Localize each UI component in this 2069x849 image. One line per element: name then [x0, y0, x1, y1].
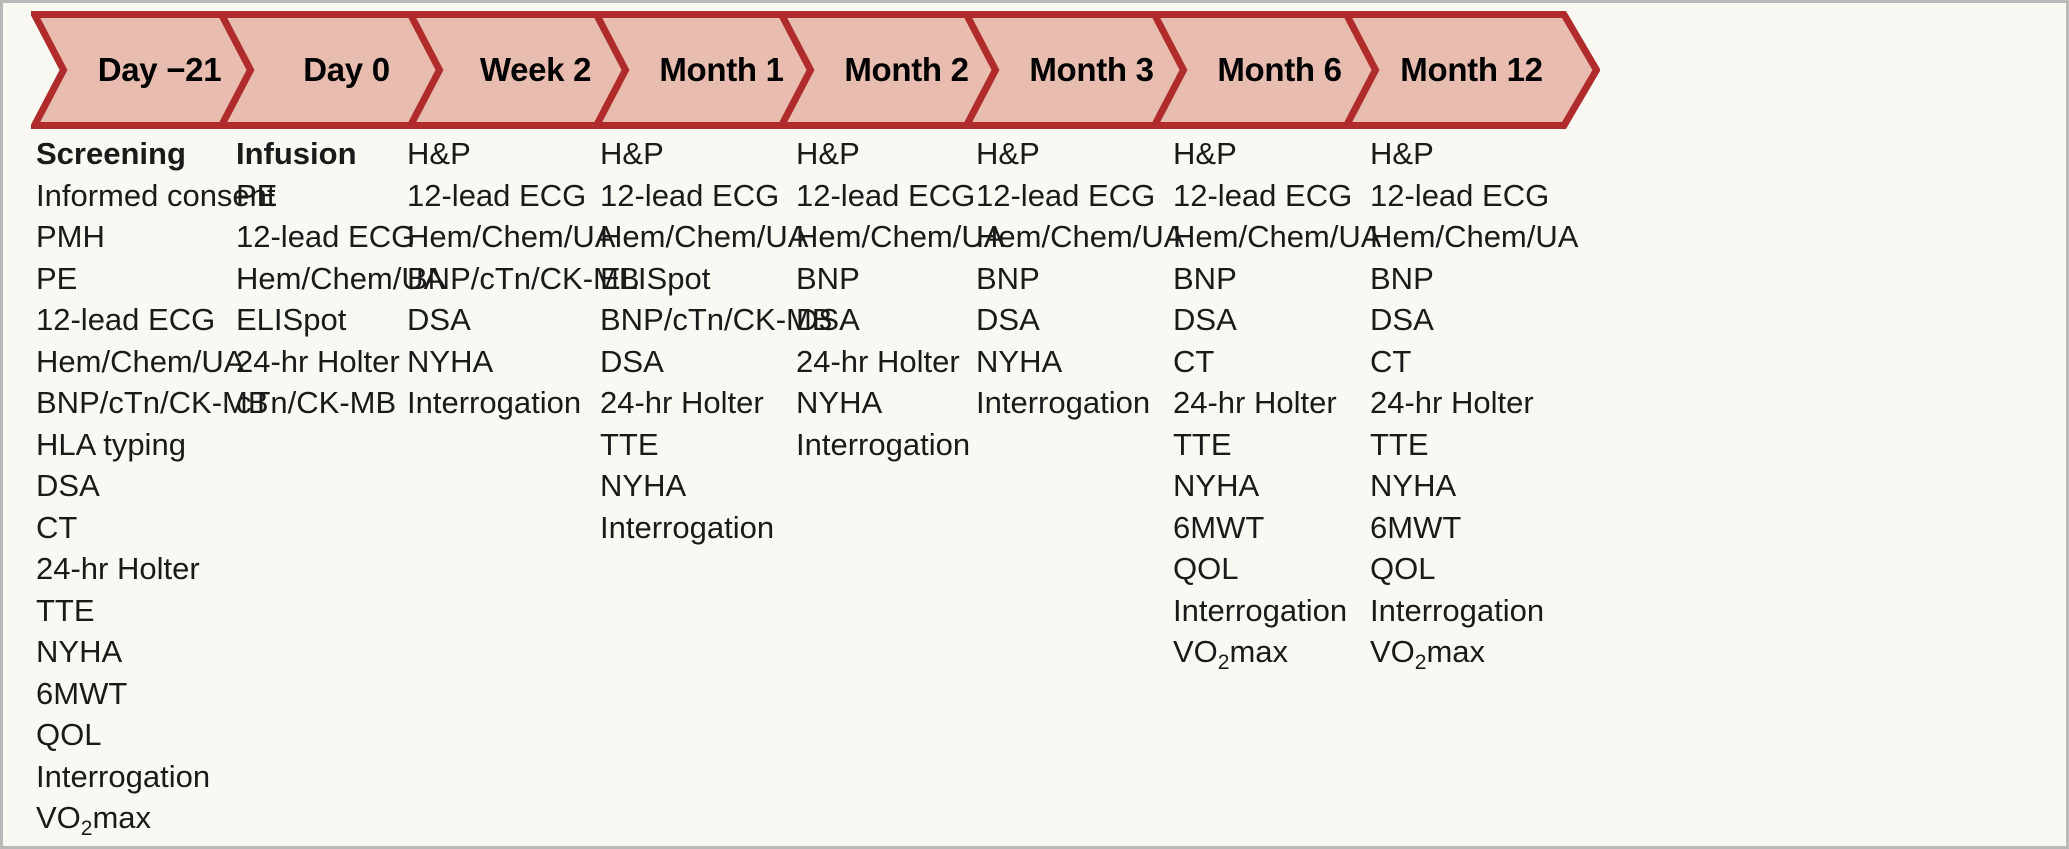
chevron-label: Month 1	[659, 51, 783, 89]
assessment-item: QOL	[1370, 548, 1578, 590]
assessment-item: DSA	[1370, 299, 1578, 341]
assessment-item: CT	[36, 507, 276, 549]
assessment-item: DSA	[36, 465, 276, 507]
timeline-chevron-8[interactable]: Month 12	[1343, 11, 1600, 129]
assessment-item: DSA	[1173, 299, 1381, 341]
chevron-label: Month 3	[1029, 51, 1153, 89]
assessment-item: CT	[1370, 341, 1578, 383]
assessment-item: 12-lead ECG	[976, 175, 1184, 217]
assessment-item: Hem/Chem/UA	[796, 216, 1004, 258]
chevron-label: Month 2	[844, 51, 968, 89]
assessment-item: 24-hr Holter	[36, 548, 276, 590]
assessment-item: 24-hr Holter	[1370, 382, 1578, 424]
assessment-item: Interrogation	[1173, 590, 1381, 632]
assessment-item: Interrogation	[976, 382, 1184, 424]
assessment-columns: ScreeningInformed consentPMHPE12-lead EC…	[3, 133, 2069, 833]
assessment-item: BNP	[796, 258, 1004, 300]
chevron-label: Week 2	[480, 51, 591, 89]
assessment-item: QOL	[36, 714, 276, 756]
chevron-label: Month 6	[1217, 51, 1341, 89]
chevron-label: Month 12	[1400, 51, 1542, 89]
assessment-item: CT	[1173, 341, 1381, 383]
chevron-row: Day −21Day 0Week 2Month 1Month 2Month 3M…	[3, 11, 2069, 129]
assessment-item: 6MWT	[1173, 507, 1381, 549]
assessment-item: NYHA	[1370, 465, 1578, 507]
assessment-item: Interrogation	[1370, 590, 1578, 632]
assessment-item: BNP	[1370, 258, 1578, 300]
assessment-item: Hem/Chem/UA	[1173, 216, 1381, 258]
assessment-item: HLA typing	[36, 424, 276, 466]
assessment-item: NYHA	[600, 465, 833, 507]
assessment-item: TTE	[1370, 424, 1578, 466]
assessment-item: VO2max	[36, 797, 276, 839]
assessment-item: Interrogation	[796, 424, 1004, 466]
assessment-item: 12-lead ECG	[796, 175, 1004, 217]
column-heading: H&P	[1370, 133, 1578, 175]
assessment-item: DSA	[976, 299, 1184, 341]
assessment-item: VO2max	[1370, 631, 1578, 673]
assessment-item: NYHA	[36, 631, 276, 673]
assessment-item: NYHA	[796, 382, 1004, 424]
clinical-trial-timeline-figure: Day −21Day 0Week 2Month 1Month 2Month 3M…	[0, 0, 2069, 849]
assessment-item: 24-hr Holter	[1173, 382, 1381, 424]
column-heading: H&P	[976, 133, 1184, 175]
chevron-label: Day −21	[98, 51, 222, 89]
column-heading: H&P	[796, 133, 1004, 175]
assessment-item: Hem/Chem/UA	[976, 216, 1184, 258]
assessment-item: Hem/Chem/UA	[1370, 216, 1578, 258]
assessment-item: Interrogation	[36, 756, 276, 798]
column-heading: H&P	[1173, 133, 1381, 175]
assessment-column-8: H&P12-lead ECGHem/Chem/UABNPDSACT24-hr H…	[1370, 133, 1578, 673]
assessment-item: Interrogation	[600, 507, 833, 549]
assessment-column-6: H&P12-lead ECGHem/Chem/UABNPDSANYHAInter…	[976, 133, 1184, 424]
assessment-item: NYHA	[976, 341, 1184, 383]
assessment-item: QOL	[1173, 548, 1381, 590]
assessment-item: 12-lead ECG	[1370, 175, 1578, 217]
assessment-item: 24-hr Holter	[796, 341, 1004, 383]
chevron-label: Day 0	[303, 51, 390, 89]
assessment-item: NYHA	[1173, 465, 1381, 507]
assessment-item: TTE	[36, 590, 276, 632]
assessment-item: 6MWT	[1370, 507, 1578, 549]
assessment-item: TTE	[1173, 424, 1381, 466]
assessment-item: VO2max	[1173, 631, 1381, 673]
assessment-item: DSA	[796, 299, 1004, 341]
assessment-column-7: H&P12-lead ECGHem/Chem/UABNPDSACT24-hr H…	[1173, 133, 1381, 673]
assessment-item: 12-lead ECG	[1173, 175, 1381, 217]
assessment-item: BNP	[976, 258, 1184, 300]
assessment-item: 6MWT	[36, 673, 276, 715]
assessment-item: BNP	[1173, 258, 1381, 300]
timeline-banner: Day −21Day 0Week 2Month 1Month 2Month 3M…	[3, 11, 2069, 129]
assessment-column-5: H&P12-lead ECGHem/Chem/UABNPDSA24-hr Hol…	[796, 133, 1004, 465]
